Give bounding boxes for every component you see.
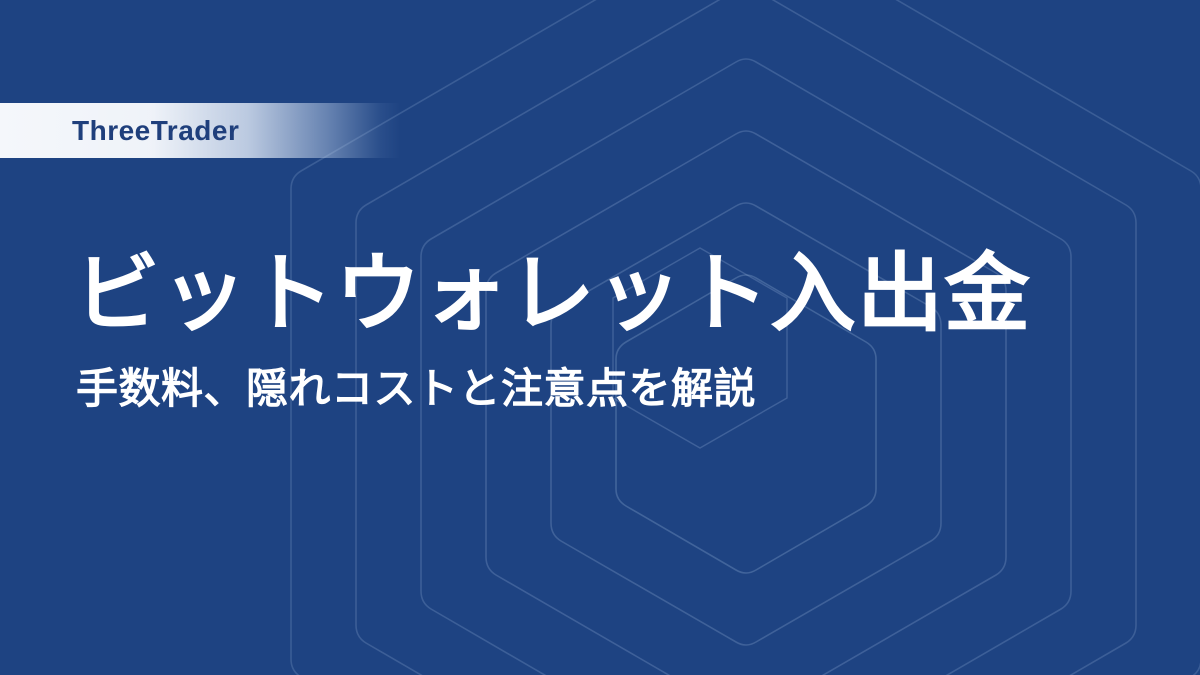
page-subtitle: 手数料、隠れコストと注意点を解説 bbox=[76, 364, 1194, 414]
hero-banner: ThreeTrader ビットウォレット入出金 手数料、隠れコストと注意点を解説 bbox=[0, 0, 1200, 675]
headline-block: ビットウォレット入出金 手数料、隠れコストと注意点を解説 bbox=[74, 246, 1194, 415]
page-title: ビットウォレット入出金 bbox=[74, 246, 1194, 342]
brand-band: ThreeTrader bbox=[0, 103, 400, 158]
brand-name: ThreeTrader bbox=[72, 117, 239, 145]
